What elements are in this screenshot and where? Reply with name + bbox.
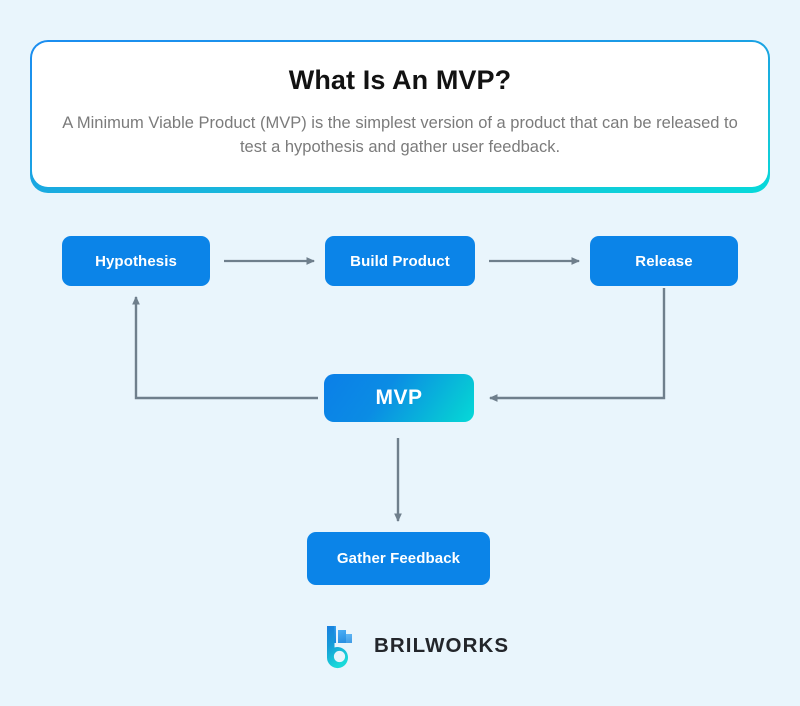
flow-node-release[interactable]: Release [590, 236, 738, 286]
flow-node-build-product[interactable]: Build Product [325, 236, 475, 286]
brilworks-b-icon [325, 623, 363, 669]
brand-name: BRILWORKS [374, 636, 509, 657]
page-description: A Minimum Viable Product (MVP) is the si… [60, 112, 740, 160]
header-card-inner: What Is An MVP? A Minimum Viable Product… [32, 42, 768, 187]
brand-logo: BRILWORKS [325, 617, 480, 675]
flow-node-gather-feedback[interactable]: Gather Feedback [307, 532, 490, 585]
edge-mvp-to-hypothesis [136, 297, 318, 398]
edge-release-to-mvp [490, 288, 664, 398]
page-title: What Is An MVP? [289, 65, 512, 96]
flow-node-mvp[interactable]: MVP [324, 374, 474, 422]
flow-node-hypothesis[interactable]: Hypothesis [62, 236, 210, 286]
header-card: What Is An MVP? A Minimum Viable Product… [30, 40, 770, 193]
